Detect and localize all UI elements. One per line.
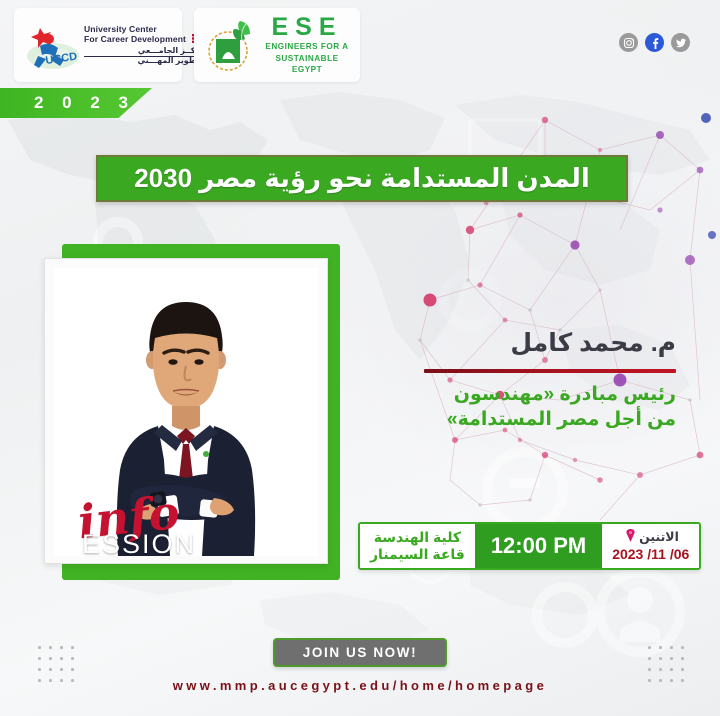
location-line2: قاعة السيمنار [370,546,465,564]
event-poster: UCCD University Center For Career Develo… [0,0,720,716]
ese-logo-text: ESE ENGINEERS FOR A SUSTAINABLE EGYPT [262,15,352,75]
event-info-strip: كلية الهندسة قاعة السيمنار 12:00 PM الات… [358,522,701,570]
poster-title: المدن المستدامة نحو رؤية مصر 2030 [134,163,590,194]
speaker-photo-frame: info ESSION [40,240,340,580]
ese-tagline-line2: SUSTAINABLE EGYPT [262,54,352,75]
ese-tagline-line1: ENGINEERS FOR A [262,42,352,52]
uccd-logo-text: University Center For Career Development… [84,25,212,66]
event-time: 12:00 PM [475,524,602,568]
speaker-name: م. محمد كامل [386,330,676,358]
event-location: كلية الهندسة قاعة السيمنار [360,524,475,568]
speaker-details: م. محمد كامل رئيس مبادرة «مهندسون من أجل… [386,330,676,433]
speaker-divider [424,369,676,373]
website-url[interactable]: www.mmp.aucegypt.edu/home/homepage [0,678,720,693]
speaker-role-line1: رئيس مبادرة «مهندسون [386,382,676,408]
pin-icon [625,529,636,546]
year-label: 2 0 2 3 [34,93,135,113]
event-date: الاتنين 2023 /11 /06 [602,524,699,568]
twitter-icon[interactable] [671,33,690,52]
location-line1: كلية الهندسة [374,529,461,547]
ese-logo-card: ESE ENGINEERS FOR A SUSTAINABLE EGYPT [194,8,360,82]
instagram-icon[interactable] [619,33,638,52]
facebook-icon[interactable] [645,33,664,52]
ese-logo-mark [202,17,258,73]
social-links [619,33,690,52]
date-label: 2023 /11 /06 [612,546,689,563]
cta-label: JOIN US NOW! [303,645,417,660]
logo-bar: UCCD University Center For Career Develo… [8,8,712,86]
uccd-line2: For Career Development [84,34,212,45]
speaker-portrait [54,268,318,556]
uccd-logo-mark: UCCD [20,14,82,76]
join-us-now-button[interactable]: JOIN US NOW! [273,638,447,667]
uccd-logo-card: UCCD University Center For Career Develo… [14,8,182,82]
uccd-line1: University Center [84,25,212,34]
date-day-row: الاتنين [623,529,679,546]
day-label: الاتنين [639,530,679,544]
uccd-arabic2: للــتطوير المهـــني [84,57,212,65]
poster-title-banner: المدن المستدامة نحو رؤية مصر 2030 [96,155,628,202]
speaker-role-line2: من أجل مصر المستدامة» [386,407,676,433]
time-label: 12:00 PM [491,533,586,559]
ese-initials: ESE [262,15,352,40]
